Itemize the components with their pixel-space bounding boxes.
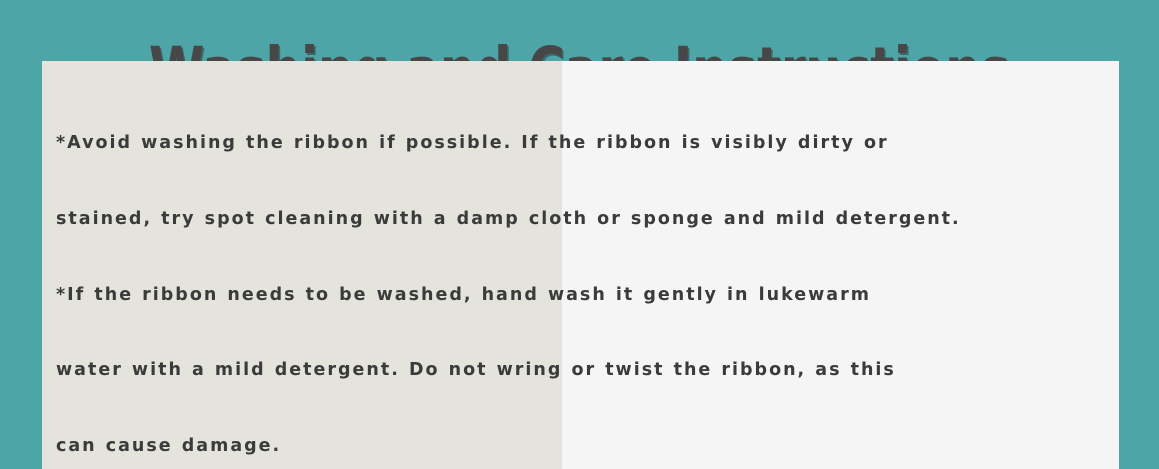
instructions-text: *Avoid washing the ribbon if possible. I…: [56, 81, 1111, 469]
instruction-line: stained, try spot cleaning with a damp c…: [56, 207, 1111, 232]
instruction-line: water with a mild detergent. Do not wrin…: [56, 358, 1111, 383]
instruction-line: can cause damage.: [56, 434, 1111, 459]
poster-canvas: Washing and Care Instructions *Avoid was…: [0, 0, 1159, 469]
instruction-line: *Avoid washing the ribbon if possible. I…: [56, 131, 1111, 156]
instructions-panel: *Avoid washing the ribbon if possible. I…: [42, 61, 1119, 469]
instruction-line: *If the ribbon needs to be washed, hand …: [56, 283, 1111, 308]
